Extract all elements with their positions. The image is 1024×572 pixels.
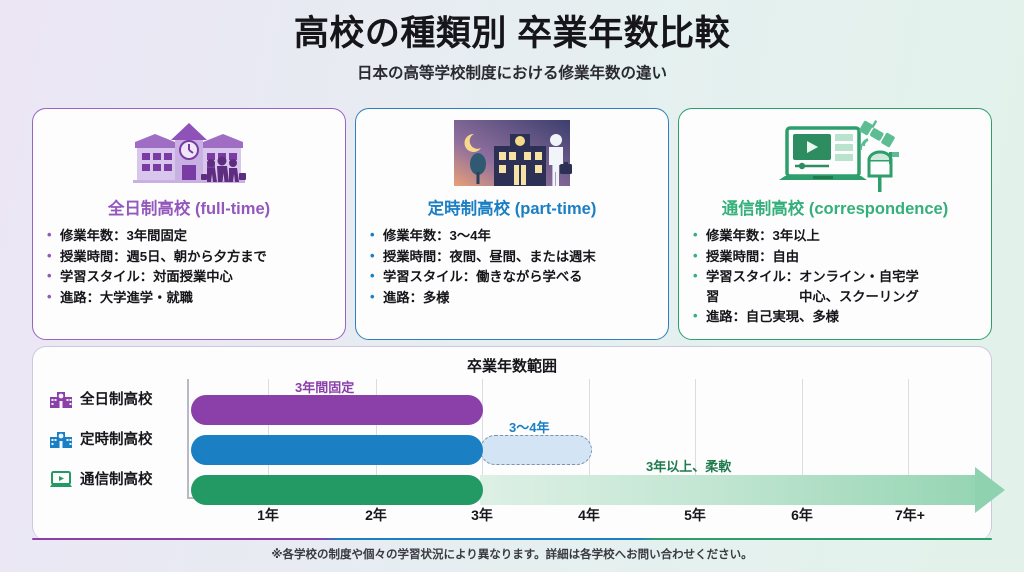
bar-fulltime[interactable] xyxy=(191,395,483,425)
x-tick-label: 6年 xyxy=(791,505,813,525)
list-item: 学習スタイル：働きながら学べる xyxy=(370,267,656,287)
chart-panel: 卒業年数範囲 xyxy=(32,346,992,540)
row-label-correspondence: 通信制高校 xyxy=(49,468,153,489)
row-label-parttime: 定時制高校 xyxy=(49,428,153,449)
x-tick-label: 2年 xyxy=(365,505,387,525)
chart-plot-area: 全日制高校 定時制高校 xyxy=(33,347,993,541)
x-tick-label: 4年 xyxy=(578,505,600,525)
card-bullets-correspondence: 修業年数：3年以上 授業時間：自由 学習スタイル：オンライン・自宅学 習 中心、… xyxy=(691,226,979,327)
bar-extension-parttime[interactable] xyxy=(480,435,592,465)
card-fulltime[interactable]: 全日制高校 (full-time) 修業年数：3年間固定 授業時間：週5日、朝か… xyxy=(32,108,346,340)
y-axis-line xyxy=(187,379,189,498)
school-building-day-icon xyxy=(45,117,333,193)
row-label-text: 全日制高校 xyxy=(80,388,153,409)
arrow-head-correspondence xyxy=(975,467,1005,513)
school-type-cards: 全日制高校 (full-time) 修業年数：3年間固定 授業時間：週5日、朝か… xyxy=(32,108,992,340)
x-tick-label: 1年 xyxy=(257,505,279,525)
annotation-correspondence: 3年以上、柔軟 xyxy=(646,456,731,475)
annotation-parttime: 3〜4年 xyxy=(509,417,549,436)
list-item: 修業年数：3年以上 xyxy=(693,226,979,246)
x-tick-label: 5年 xyxy=(684,505,706,525)
list-item: 授業時間：自由 xyxy=(693,247,979,267)
page-subtitle: 日本の高等学校制度における修業年数の違い xyxy=(0,61,1024,83)
card-title-correspondence: 通信制高校 (correspondence) xyxy=(691,195,979,219)
laptop-satellite-mailbox-icon xyxy=(691,117,979,193)
card-parttime[interactable]: 定時制高校 (part-time) 修業年数：3〜4年 授業時間：夜間、昼間、ま… xyxy=(355,108,669,340)
list-item: 授業時間：夜間、昼間、または週末 xyxy=(370,247,656,267)
list-item: 授業時間：週5日、朝から夕方まで xyxy=(47,247,333,267)
x-tick-label: 3年 xyxy=(471,505,493,525)
bar-correspondence[interactable] xyxy=(191,475,483,505)
page-title: 高校の種類別 卒業年数比較 xyxy=(0,14,1024,54)
row-label-text: 通信制高校 xyxy=(80,468,153,489)
x-tick-label: 7年+ xyxy=(895,505,925,525)
card-bullets-parttime: 修業年数：3〜4年 授業時間：夜間、昼間、または週末 学習スタイル：働きながら学… xyxy=(368,226,656,307)
list-item: 進路：多様 xyxy=(370,288,656,308)
list-item: 学習スタイル：対面授業中心 xyxy=(47,267,333,287)
footnote: ※各学校の制度や個々の学習状況により異なります。詳細は各学校へお問い合わせくださ… xyxy=(0,546,1024,562)
card-title-parttime: 定時制高校 (part-time) xyxy=(368,195,656,219)
annotation-fulltime: 3年間固定 xyxy=(295,377,354,396)
card-bullets-fulltime: 修業年数：3年間固定 授業時間：週5日、朝から夕方まで 学習スタイル：対面授業中… xyxy=(45,226,333,307)
list-item: 学習スタイル：オンライン・自宅学 習 中心、スクーリング xyxy=(693,267,979,306)
school-building-purple-icon xyxy=(49,389,73,409)
list-item: 進路：大学進学・就職 xyxy=(47,288,333,308)
laptop-green-icon xyxy=(49,469,73,489)
page-header: 高校の種類別 卒業年数比較 日本の高等学校制度における修業年数の違い xyxy=(0,0,1024,83)
card-correspondence[interactable]: 通信制高校 (correspondence) 修業年数：3年以上 授業時間：自由… xyxy=(678,108,992,340)
row-label-text: 定時制高校 xyxy=(80,428,153,449)
list-item: 修業年数：3〜4年 xyxy=(370,226,656,246)
list-item: 進路：自己実現、多様 xyxy=(693,307,979,327)
list-item: 修業年数：3年間固定 xyxy=(47,226,333,246)
card-title-fulltime: 全日制高校 (full-time) xyxy=(45,195,333,219)
school-building-blue-icon xyxy=(49,429,73,449)
bar-parttime[interactable] xyxy=(191,435,483,465)
row-label-fulltime: 全日制高校 xyxy=(49,388,153,409)
arrow-body-correspondence xyxy=(480,475,975,505)
school-building-night-icon xyxy=(368,117,656,193)
